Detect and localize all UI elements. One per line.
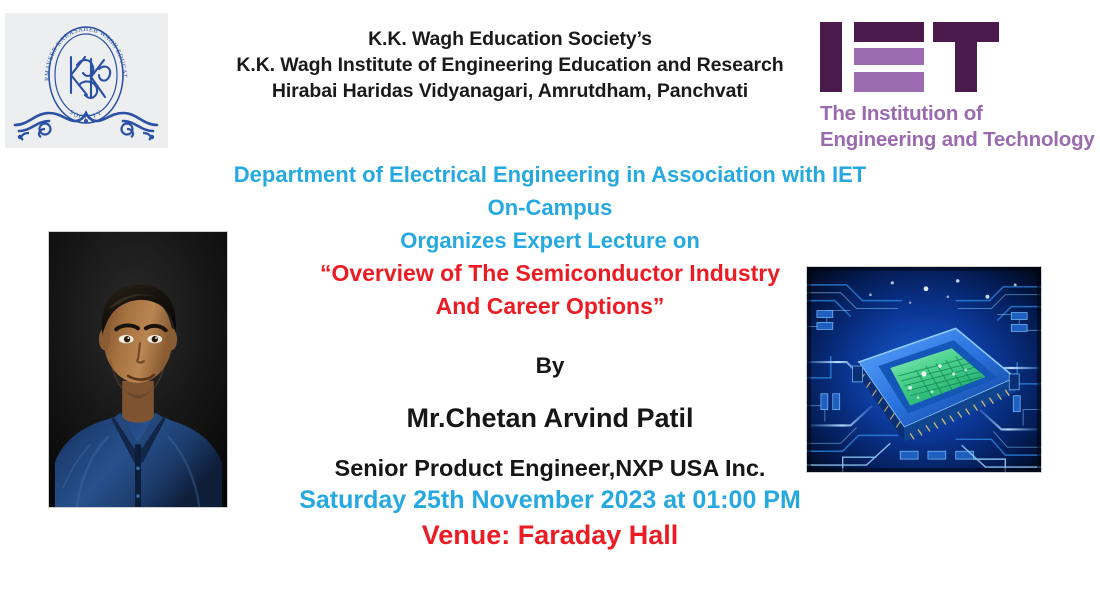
speaker-portrait-image <box>49 232 227 507</box>
iet-tagline: The Institution of Engineering and Techn… <box>820 101 1082 153</box>
institute-name: K.K. Wagh Institute of Engineering Educa… <box>190 52 830 78</box>
iet-letter-i <box>820 22 842 92</box>
iet-tagline-line2: Engineering and Technology <box>820 127 1082 153</box>
institute-address: Hirabai Haridas Vidyanagari, Amrutdham, … <box>190 78 830 104</box>
iet-letter-t-stem <box>955 22 977 92</box>
semiconductor-chip-container <box>806 266 1042 473</box>
event-venue: Venue: Faraday Hall <box>180 517 920 553</box>
department-line-1: Department of Electrical Engineering in … <box>180 158 920 191</box>
iet-logo-container: The Institution of Engineering and Techn… <box>820 22 1082 150</box>
poster-canvas: KARMAVEER KAKASAHEB WAGH EDUCATION SOCIE… <box>0 0 1100 605</box>
event-datetime: Saturday 25th November 2023 at 01:00 PM <box>180 483 920 517</box>
society-name: K.K. Wagh Education Society’s <box>190 26 830 52</box>
iet-wordmark-icon <box>820 22 998 92</box>
department-line-2: On-Campus <box>180 191 920 224</box>
kk-wagh-logo-container: KARMAVEER KAKASAHEB WAGH EDUCATION SOCIE… <box>5 13 168 148</box>
iet-letter-e-bar-top <box>854 22 924 42</box>
organizes-line: Organizes Expert Lecture on <box>180 224 920 257</box>
iet-letter-e-bar-bottom <box>854 72 924 92</box>
iet-tagline-line1: The Institution of <box>820 101 1082 127</box>
speaker-portrait-container <box>48 231 228 508</box>
semiconductor-chip-image <box>807 267 1041 472</box>
kk-wagh-seal-icon: KARMAVEER KAKASAHEB WAGH EDUCATION SOCIE… <box>5 13 168 148</box>
iet-letter-e-bar-middle <box>854 48 924 65</box>
institute-header: K.K. Wagh Education Society’s K.K. Wagh … <box>190 26 830 104</box>
